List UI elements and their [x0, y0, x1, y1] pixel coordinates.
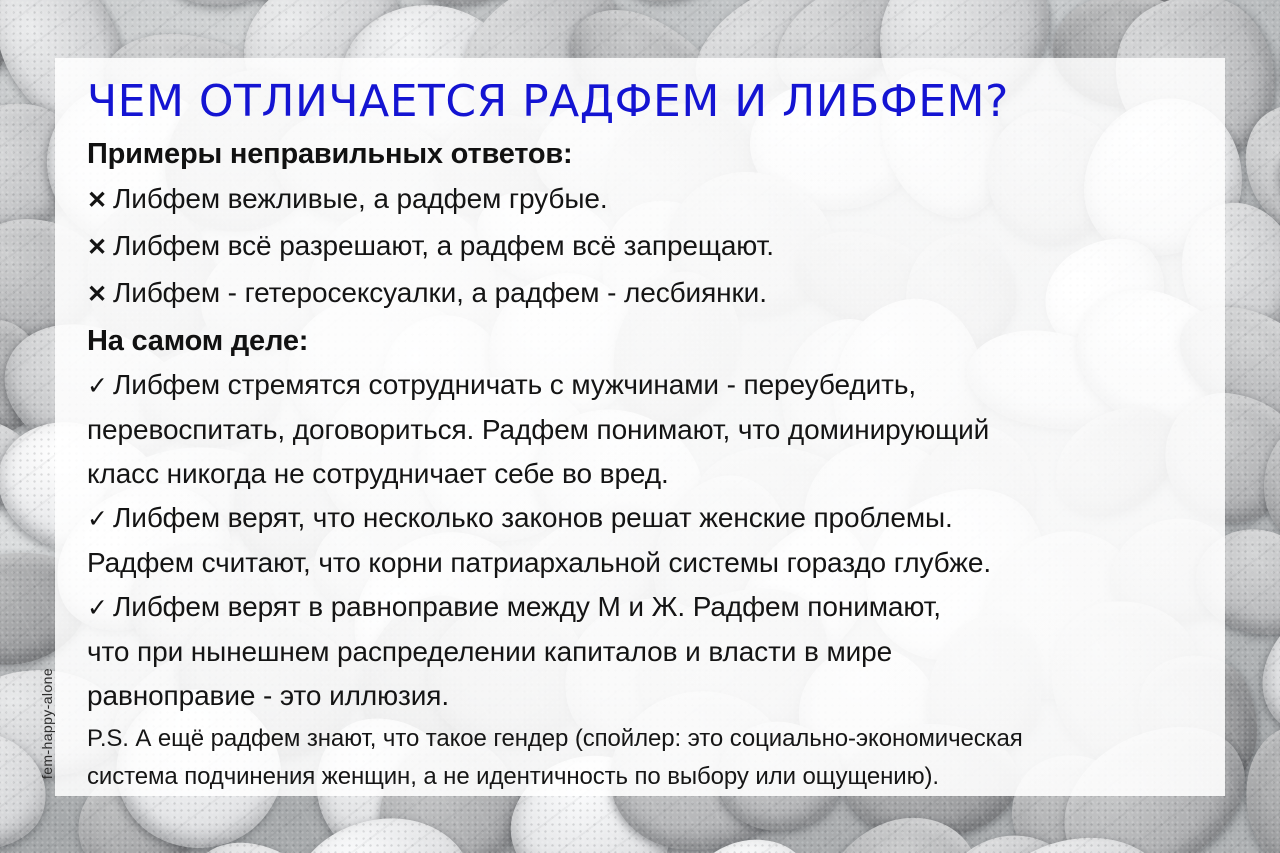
truth-item-continuation: что при нынешнем распределении капиталов…	[87, 630, 1195, 674]
postscript-line: система подчинения женщин, а не идентичн…	[87, 760, 1195, 794]
watermark: fem-happy-alone	[39, 668, 55, 779]
wrong-answers-heading: Примеры неправильных ответов:	[87, 134, 1195, 174]
truth-text: Либфем верят, что несколько законов реша…	[113, 502, 953, 533]
check-icon: ✓	[87, 586, 113, 630]
truth-item-continuation: Радфем считают, что корни патриархальной…	[87, 541, 1195, 585]
wrong-answer-text: Либфем - гетеросексуалки, а радфем - лес…	[113, 277, 767, 308]
wrong-answer-item: ✕Либфем всё разрешают, а радфем всё запр…	[87, 223, 1195, 270]
truth-text: Либфем стремятся сотрудничать с мужчинам…	[113, 369, 916, 400]
cross-icon: ✕	[87, 225, 113, 270]
postscript-line: P.S. А ещё радфем знают, что такое генде…	[87, 722, 1195, 756]
cross-icon: ✕	[87, 272, 113, 317]
truth-item: ✓Либфем стремятся сотрудничать с мужчина…	[87, 363, 1195, 408]
truth-item-continuation: равноправие - это иллюзия.	[87, 674, 1195, 718]
truth-heading: На самом деле:	[87, 321, 1195, 361]
white-content-card: ЧЕМ ОТЛИЧАЕТСЯ РАДФЕМ И ЛИБФЕМ? Примеры …	[55, 58, 1225, 796]
wrong-answer-text: Либфем вежливые, а радфем грубые.	[113, 183, 608, 214]
truth-item-continuation: перевоспитать, договориться. Радфем пони…	[87, 408, 1195, 452]
card-content: ЧЕМ ОТЛИЧАЕТСЯ РАДФЕМ И ЛИБФЕМ? Примеры …	[55, 58, 1225, 794]
truth-text: Либфем верят в равноправие между М и Ж. …	[113, 591, 941, 622]
truth-item: ✓Либфем верят, что несколько законов реш…	[87, 496, 1195, 541]
check-icon: ✓	[87, 364, 113, 408]
truth-item: ✓Либфем верят в равноправие между М и Ж.…	[87, 585, 1195, 630]
wrong-answer-text: Либфем всё разрешают, а радфем всё запре…	[113, 230, 774, 261]
wrong-answer-item: ✕Либфем вежливые, а радфем грубые.	[87, 176, 1195, 223]
cross-icon: ✕	[87, 178, 113, 223]
check-icon: ✓	[87, 497, 113, 541]
wrong-answer-item: ✕Либфем - гетеросексуалки, а радфем - ле…	[87, 270, 1195, 317]
truth-item-continuation: класс никогда не сотрудничает себе во вр…	[87, 452, 1195, 496]
page-title: ЧЕМ ОТЛИЧАЕТСЯ РАДФЕМ И ЛИБФЕМ?	[87, 76, 1195, 128]
